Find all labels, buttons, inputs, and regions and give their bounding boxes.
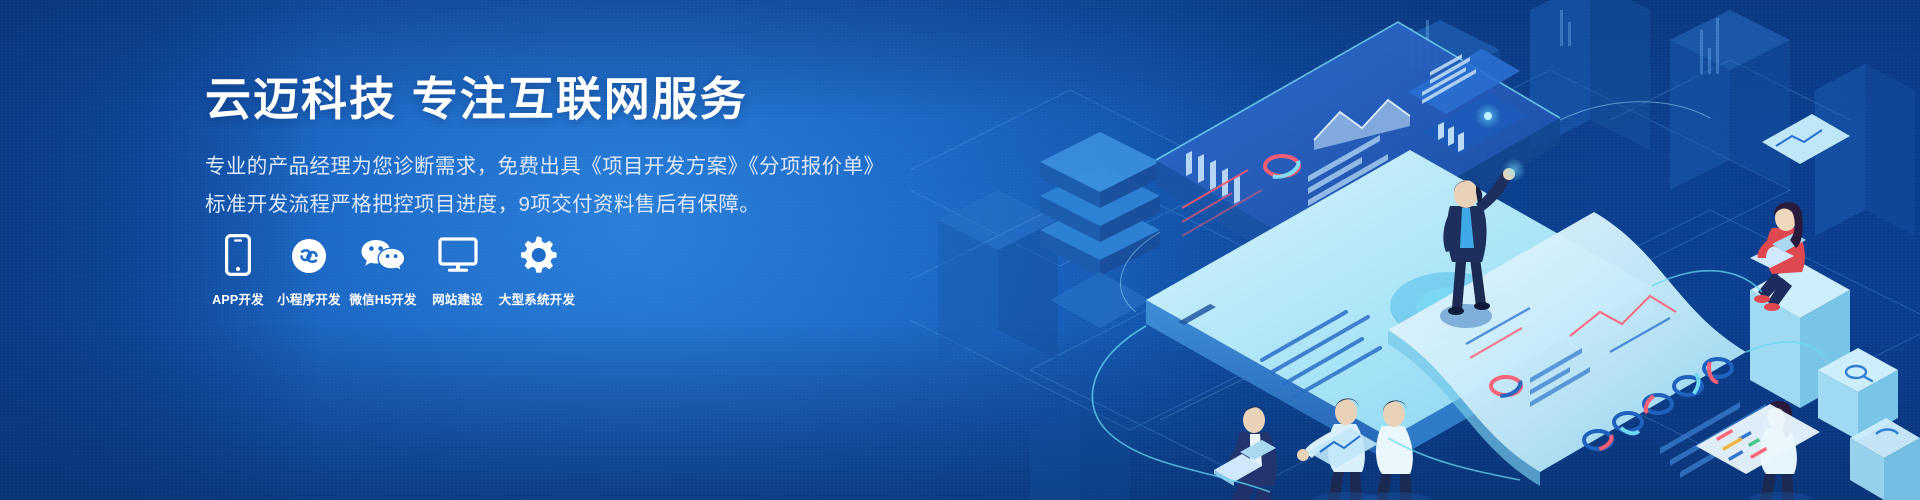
service-label-miniprogram: 小程序开发 <box>277 289 341 308</box>
service-label-system: 大型系统开发 <box>499 289 575 308</box>
wechat-icon <box>360 230 406 276</box>
isometric-illustration <box>910 0 1920 500</box>
promotional-banner: 云迈科技 专注互联网服务 专业的产品经理为您诊断需求，免费出具《项目开发方案》《… <box>0 0 1920 500</box>
service-item-system[interactable]: 大型系统开发 <box>494 230 580 308</box>
service-item-wechat[interactable]: 微信H5开发 <box>345 230 421 308</box>
gear-icon <box>516 230 558 276</box>
service-item-app[interactable]: APP开发 <box>203 230 273 308</box>
service-item-miniprogram[interactable]: 小程序开发 <box>273 230 345 308</box>
banner-text-block: 云迈科技 专注互联网服务 专业的产品经理为您诊断需求，免费出具《项目开发方案》《… <box>205 72 905 224</box>
banner-subtitle-line-1: 专业的产品经理为您诊断需求，免费出具《项目开发方案》《分项报价单》 <box>205 148 905 186</box>
mobile-phone-icon <box>225 230 251 276</box>
service-item-website[interactable]: 网站建设 <box>421 230 494 308</box>
mini-program-icon <box>289 230 329 276</box>
service-label-app: APP开发 <box>212 289 264 308</box>
service-label-website: 网站建设 <box>432 289 483 308</box>
service-label-wechat: 微信H5开发 <box>349 289 416 308</box>
banner-headline: 云迈科技 专注互联网服务 <box>205 72 905 126</box>
monitor-icon <box>438 230 478 276</box>
banner-subtitle-line-2: 标准开发流程严格把控项目进度，9项交付资料售后有保障。 <box>205 186 905 224</box>
service-icon-row: APP开发 小程序开发 <box>203 230 580 308</box>
